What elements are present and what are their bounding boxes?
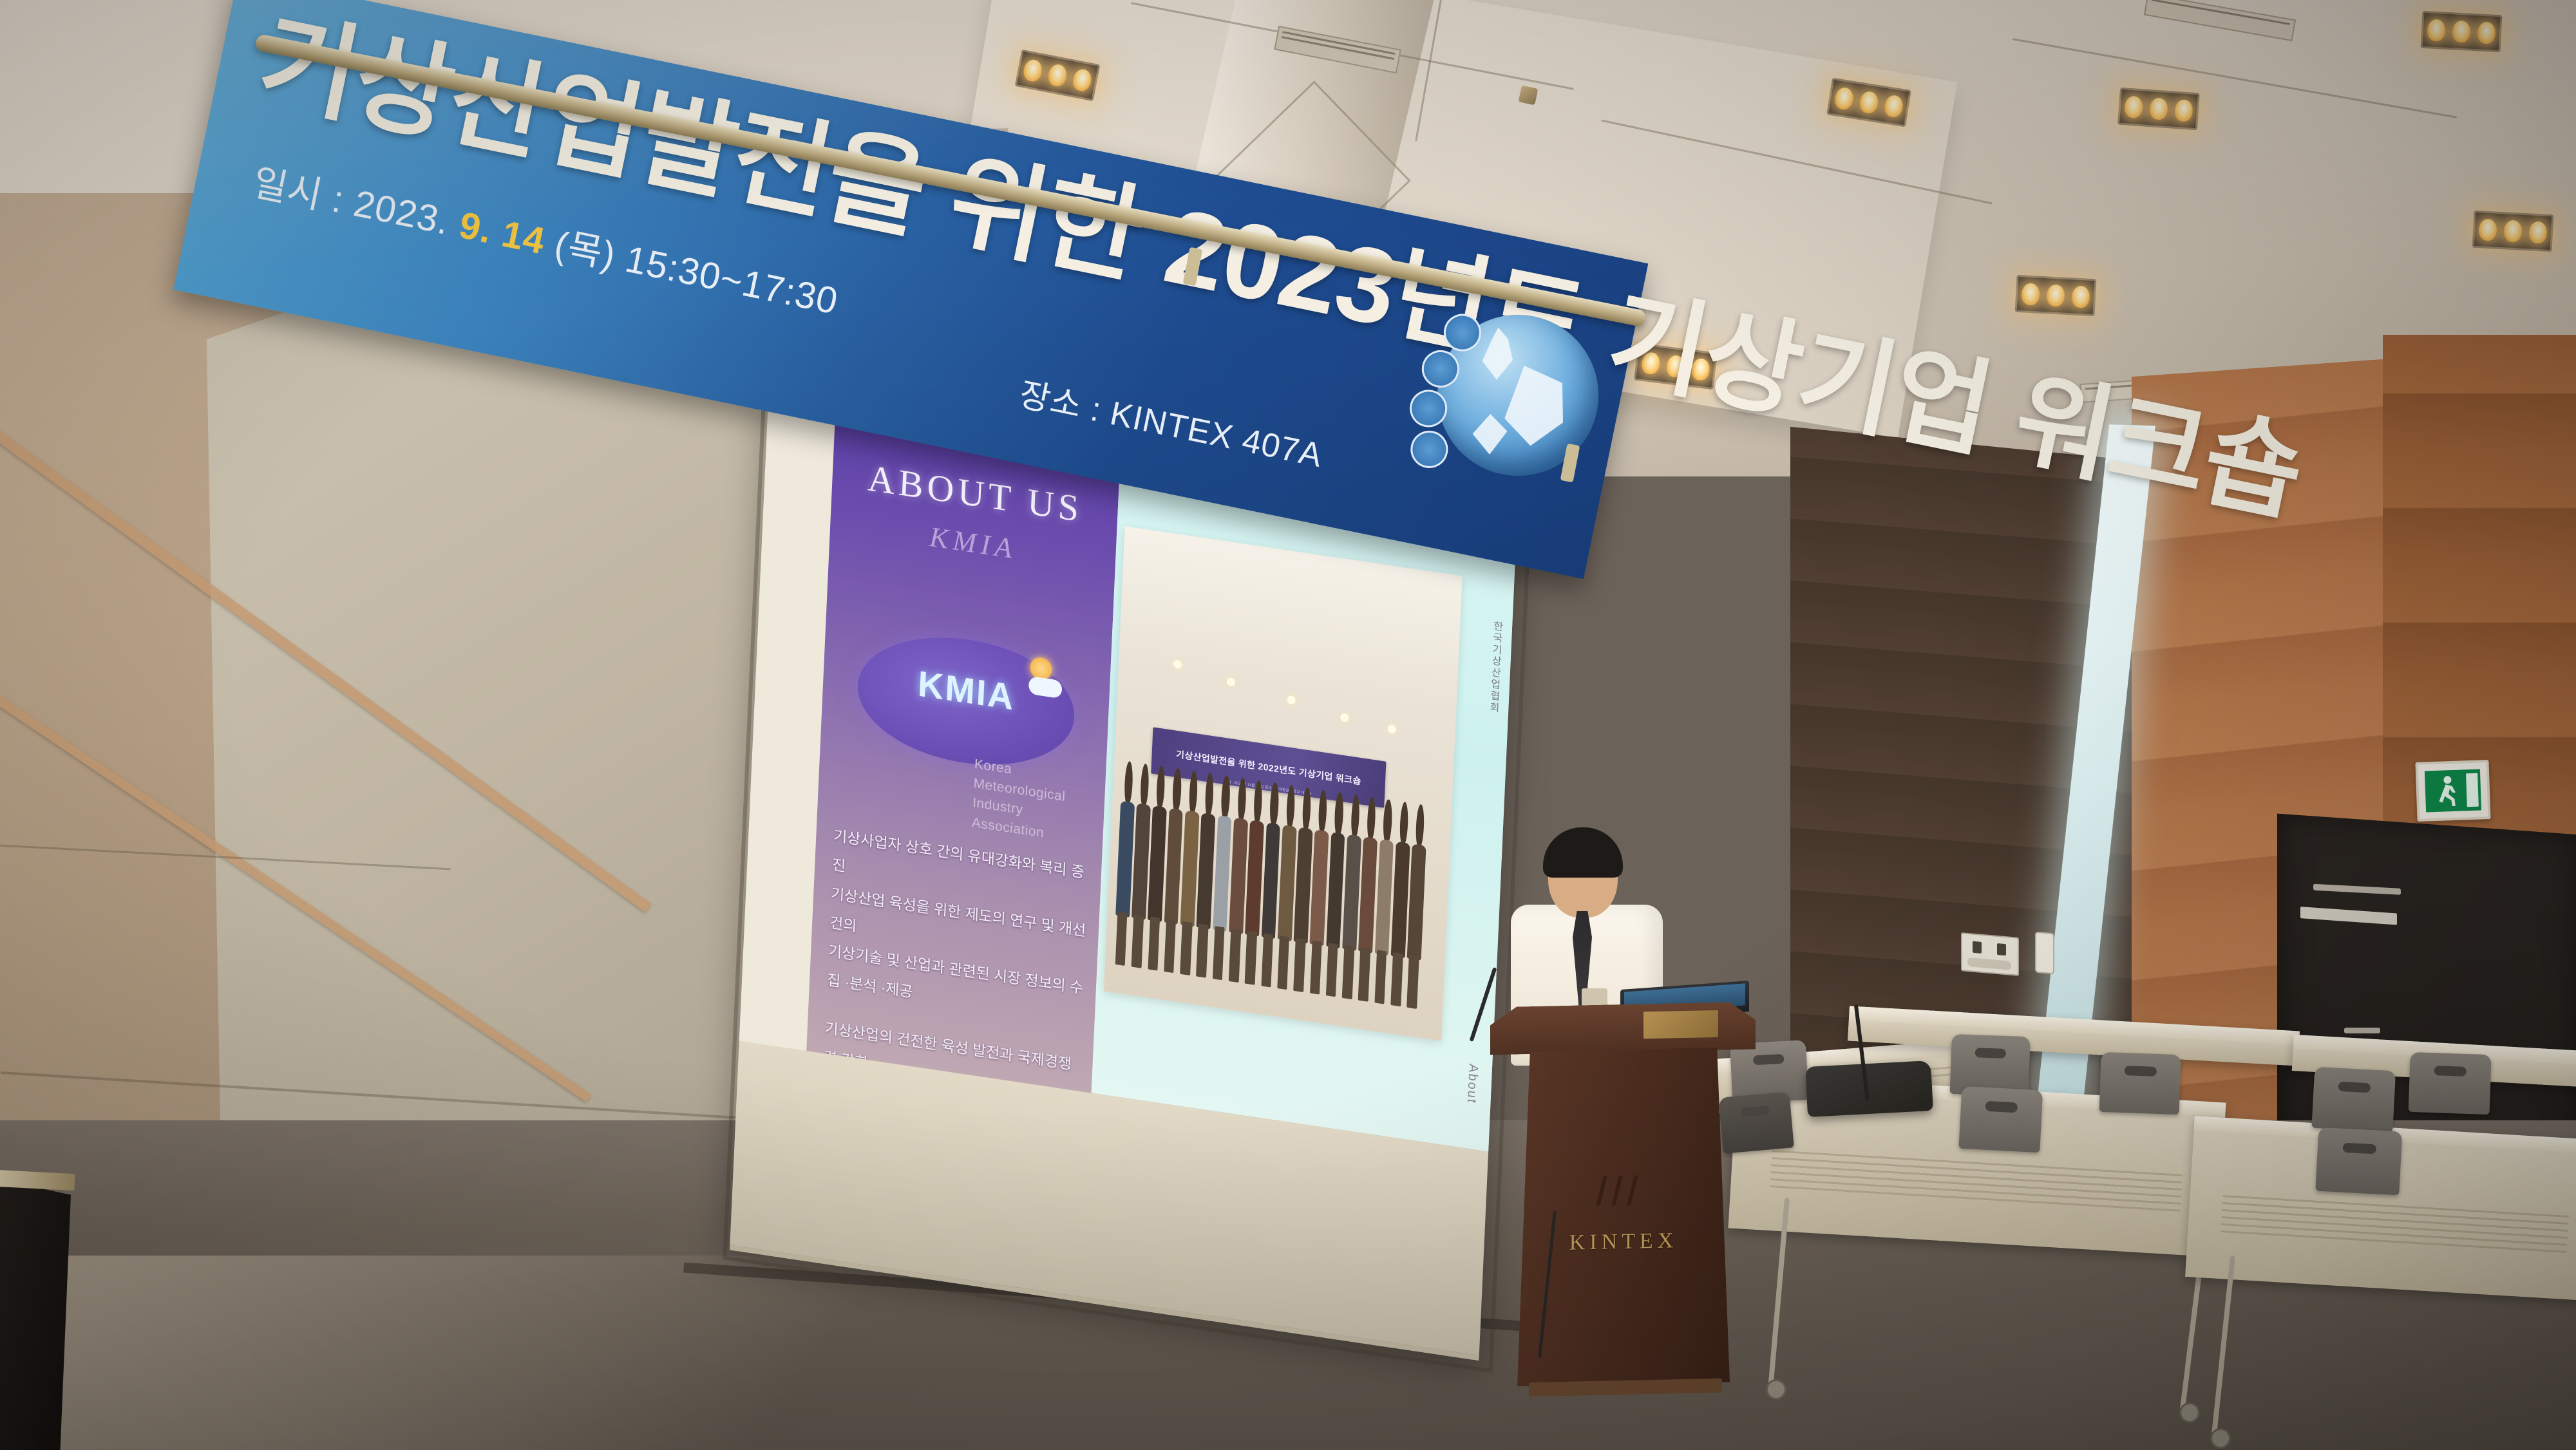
ceiling-light-fixture	[2015, 275, 2097, 316]
lamp-bulb	[1046, 63, 1068, 88]
globe-icon	[1391, 283, 1619, 511]
presenter-hair	[1543, 827, 1623, 878]
lectern-accent-bar	[1611, 1176, 1622, 1205]
outlet-socket	[1973, 941, 1982, 954]
lamp-bulb	[2174, 99, 2193, 122]
lamp-bulb	[2503, 220, 2523, 242]
lamp-bulb	[2046, 284, 2065, 306]
lamp-bulb	[2477, 21, 2496, 44]
chair[interactable]	[2407, 1052, 2492, 1158]
sprinkler-head	[1519, 86, 1539, 106]
lectern-accent-bar	[1627, 1176, 1638, 1205]
banner-date-highlight: 9. 14	[456, 204, 549, 263]
conference-room-photo: ABOUT US KMIA KMIA Korea Meteorological …	[0, 0, 2576, 1450]
lamp-bulb	[2021, 283, 2040, 305]
lamp-bulb	[1858, 90, 1879, 115]
table-caster	[2210, 1428, 2231, 1449]
globe-badge-icon	[1407, 428, 1451, 471]
table-caster	[1766, 1379, 1786, 1400]
lamp-bulb	[2528, 221, 2548, 243]
presenter-name-badge	[1582, 988, 1607, 1006]
door-push-plate[interactable]	[2300, 907, 2397, 925]
ceiling-light-fixture	[2421, 11, 2503, 52]
lamp-bulb	[1021, 58, 1043, 83]
wall-thermostat[interactable]	[2035, 932, 2054, 975]
lamp-bulb	[2124, 95, 2143, 118]
bag-on-table	[1805, 1060, 1933, 1117]
door-handle[interactable]	[2313, 884, 2401, 895]
emergency-exit-icon	[2415, 760, 2490, 822]
chair[interactable]	[1956, 1086, 2043, 1198]
chair[interactable]	[2098, 1052, 2181, 1158]
lamp-bulb	[1883, 94, 1904, 118]
lamp-bulb	[2427, 19, 2446, 41]
banner-venue: 장소 : KINTEX 407A	[1016, 367, 1327, 476]
lamp-bulb	[1833, 86, 1855, 111]
ceiling-light-fixture	[2117, 88, 2200, 131]
banner-date-rest: (목) 15:30~17:30	[540, 221, 842, 323]
chair[interactable]	[2313, 1127, 2403, 1241]
lamp-bulb	[2149, 97, 2168, 120]
lamp-bulb	[2478, 218, 2497, 241]
lectern-brass-plate	[1643, 1010, 1718, 1039]
exit-door-glyph	[2466, 773, 2479, 807]
ceiling-light-fixture	[2472, 211, 2554, 252]
foreground-dark-panel	[0, 1178, 71, 1450]
lamp-bulb	[1072, 68, 1094, 93]
running-man-glyph	[2435, 775, 2465, 808]
av-outlet-plate[interactable]	[1961, 932, 2019, 976]
lamp-bulb	[2071, 285, 2090, 308]
lamp-bulb	[2452, 20, 2471, 42]
lectern-body: KINTEX	[1517, 1048, 1730, 1387]
outlet-socket	[1997, 943, 2006, 956]
lectern-accent-bar	[1596, 1176, 1607, 1206]
banner-date-year: 2023.	[350, 182, 464, 245]
outlet-cable-slot	[1967, 957, 2011, 970]
banner-date-label: 일시 :	[249, 162, 359, 223]
door-lever-handle[interactable]	[2344, 1028, 2380, 1033]
lectern: KINTEX	[1501, 1002, 1745, 1387]
table-caster	[2179, 1402, 2200, 1423]
